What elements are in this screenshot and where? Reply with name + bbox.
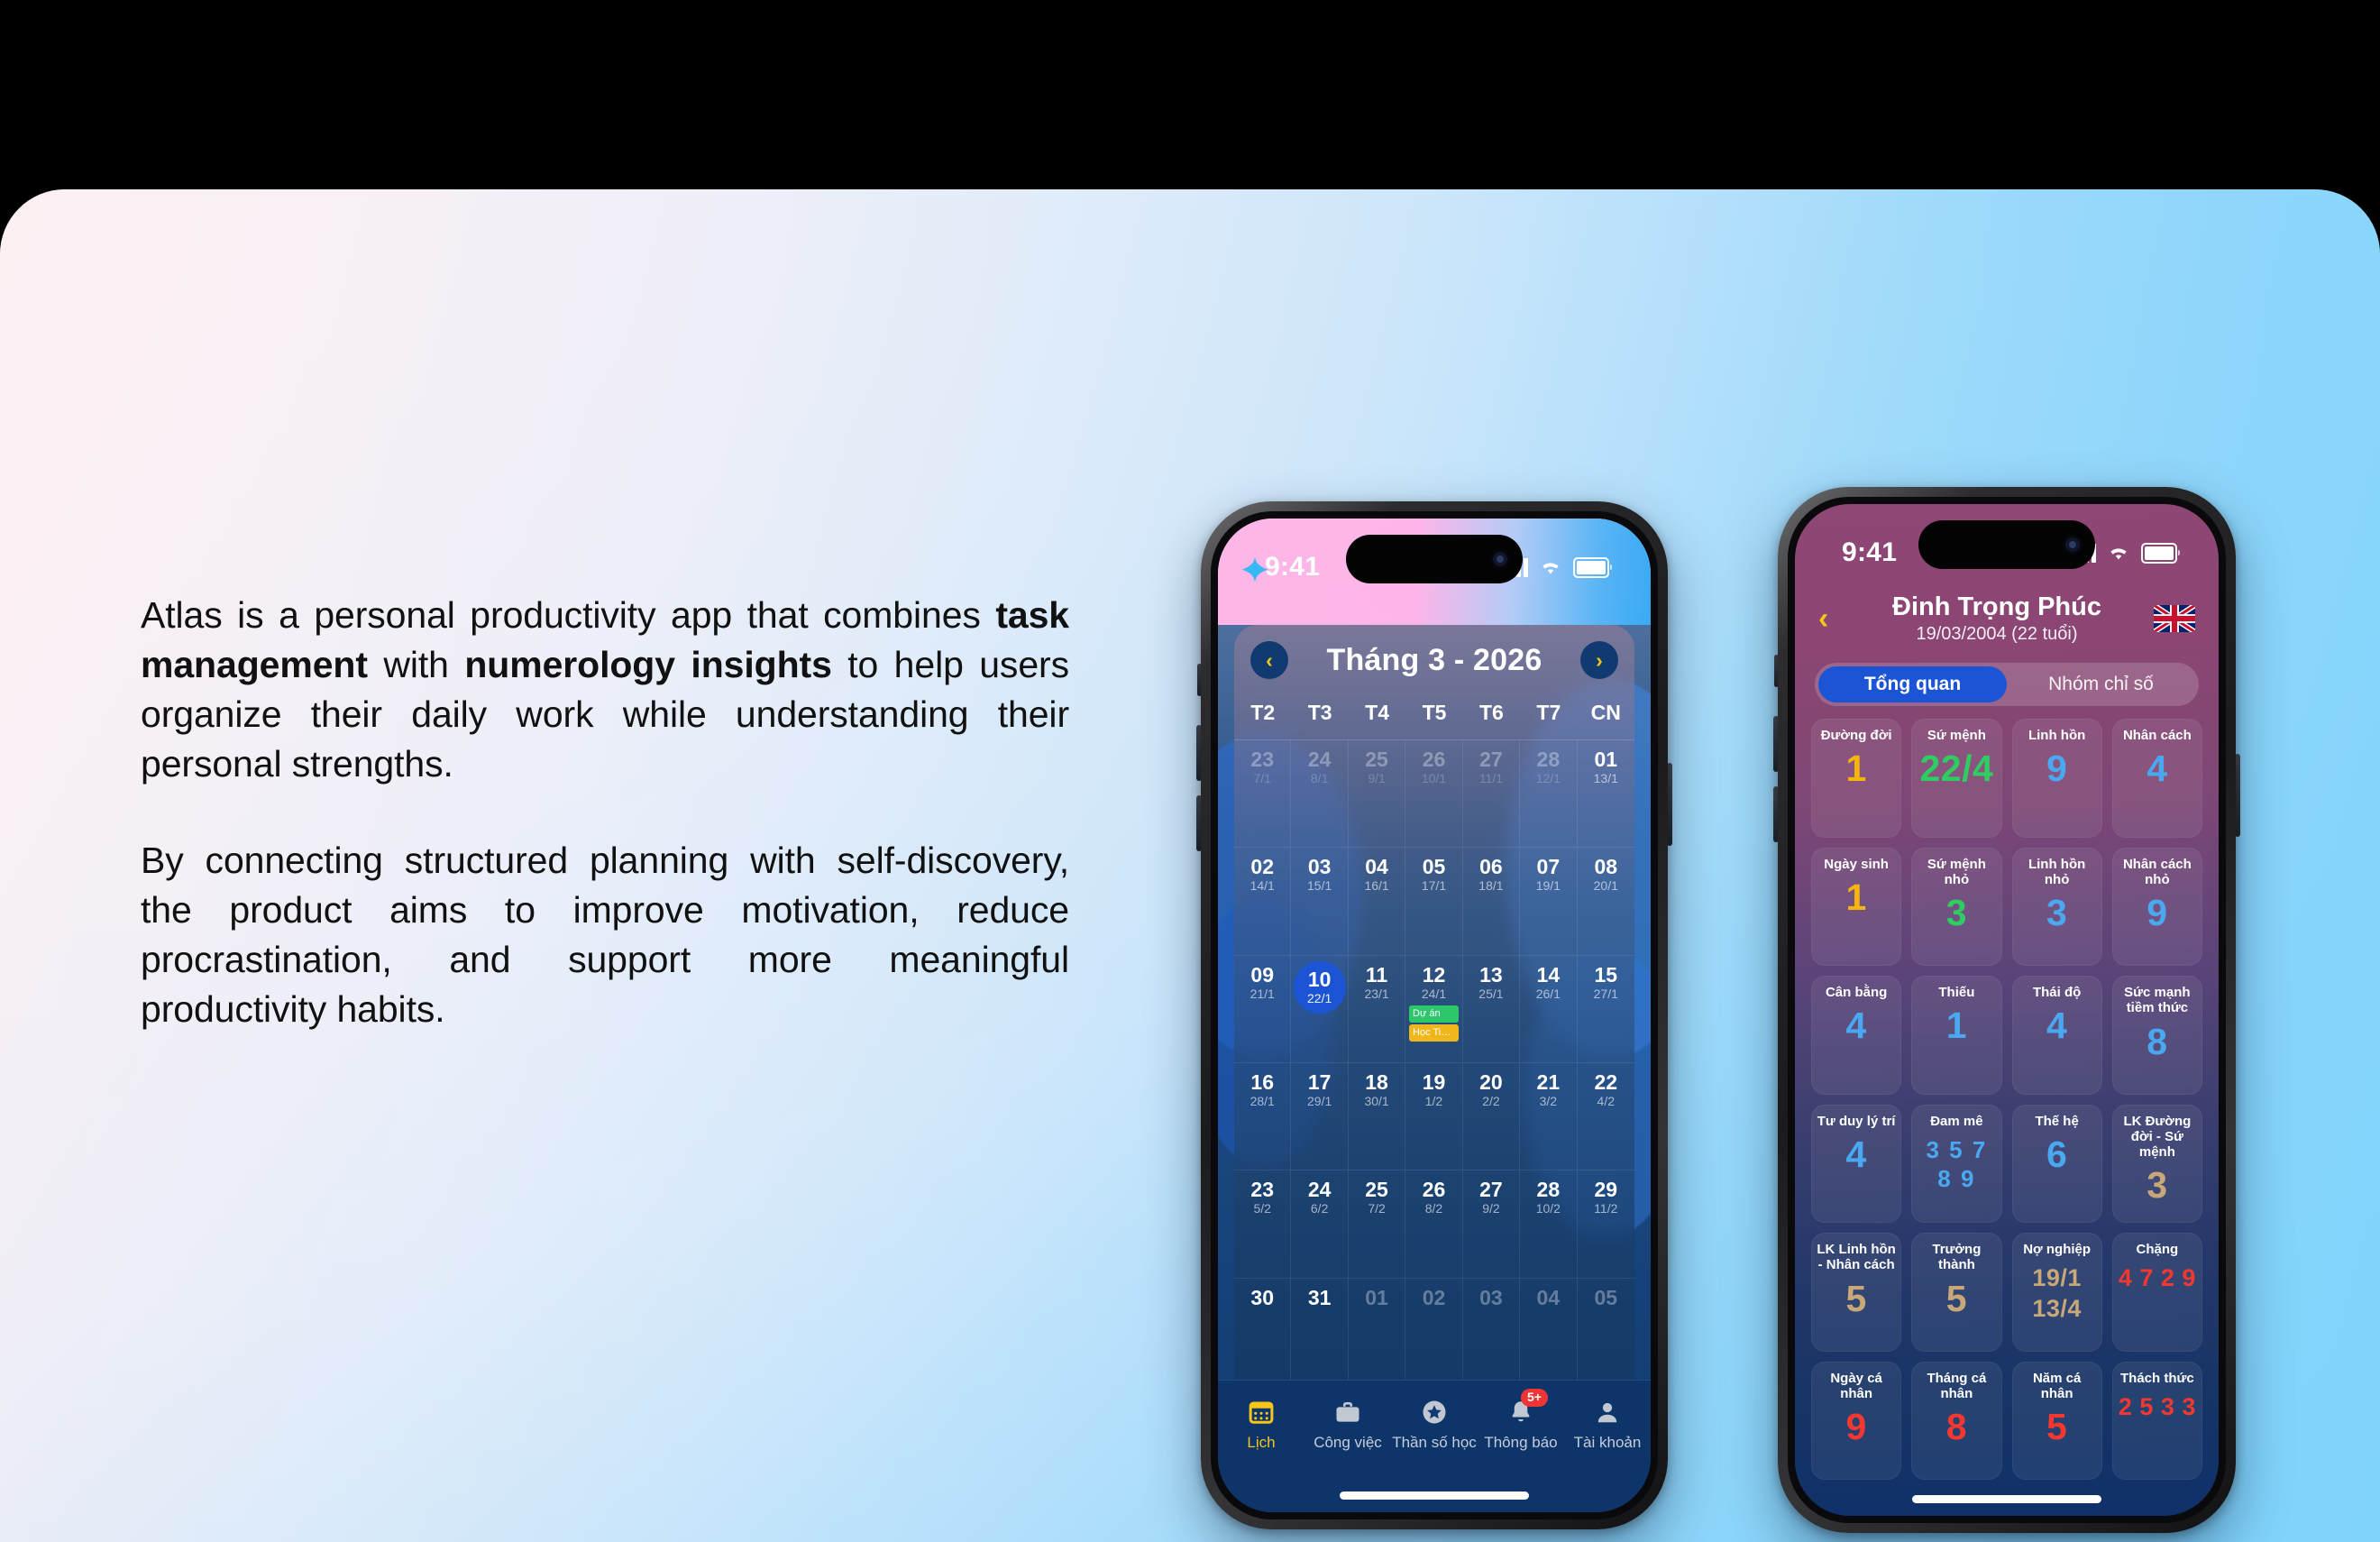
day-solar: 09 [1250,964,1274,986]
tab-label: Thông báo [1484,1434,1557,1452]
day-number-wrap: 0517/1 [1422,856,1446,893]
day-number-wrap: 31 [1308,1287,1332,1308]
numerology-label: LK Đường đời - Sứ mệnh [2112,1114,2202,1161]
numerology-cell[interactable]: Linh hồn9 [2012,719,2102,838]
numerology-value: 2 5 3 3 [2119,1392,2196,1423]
tab-star-circle[interactable]: Thần số học [1391,1397,1478,1452]
calendar-day-cell[interactable]: 1123/1 [1349,956,1405,1063]
day-solar: 31 [1308,1287,1332,1308]
calendar-day-cell[interactable]: 01 [1349,1279,1405,1386]
screenshot-stage: Atlas is a personal productivity app tha… [0,0,2380,1463]
day-solar: 25 [1365,1179,1388,1200]
day-lunar: 15/1 [1307,878,1332,893]
tab-label: Công việc [1314,1434,1382,1452]
calendar-day-cell[interactable]: 30 [1234,1279,1291,1386]
day-number-wrap: 1628/1 [1250,1071,1275,1108]
numerology-cell[interactable]: Nợ nghiệp19/113/4 [2012,1233,2102,1352]
numerology-cell[interactable]: Cân bằng4 [1811,976,1901,1095]
numerology-label: Thách thức [2116,1371,2199,1386]
home-indicator[interactable] [1340,1492,1529,1500]
day-lunar: 7/1 [1253,771,1270,785]
calendar-day-cell[interactable]: 237/1 [1234,740,1291,848]
segment-index-group[interactable]: Nhóm chỉ số [2007,666,2195,702]
presentation-card: Atlas is a personal productivity app tha… [0,189,2380,1542]
day-number-wrap: 1224/1 [1422,964,1446,1001]
numerology-cell[interactable]: Sức mạnh tiềm thức8 [2112,976,2202,1095]
status-time: 9:41 [1265,552,1320,583]
numerology-cell[interactable]: Nhân cách nhỏ9 [2112,848,2202,967]
day-lunar: 8/1 [1311,771,1328,785]
day-solar: 16 [1250,1071,1274,1093]
day-solar: 28 [1537,748,1561,770]
day-solar: 26 [1423,1179,1446,1200]
phone-screen-numerology: 9:41 ‹ Đinh Trọng Phúc 19/03/20 [1795,504,2219,1516]
numerology-value: 1 [1946,1006,1967,1045]
day-number-wrap: 1426/1 [1536,964,1561,1001]
day-lunar: 5/2 [1253,1201,1270,1216]
day-lunar: 17/1 [1422,878,1446,893]
numerology-value: 9 [1845,1408,1866,1446]
day-solar: 04 [1365,856,1388,877]
numerology-label: Thế hệ [2030,1114,2082,1129]
day-number-wrap: 0315/1 [1307,856,1332,893]
day-lunar: 7/2 [1368,1201,1385,1216]
person-icon [1592,1397,1623,1427]
day-number-wrap: 01 [1365,1287,1388,1308]
tab-label: Tài khoản [1574,1434,1642,1452]
calendar-day-cell[interactable]: 213/2 [1520,1063,1577,1170]
description-text-block: Atlas is a personal productivity app tha… [141,591,1069,1034]
calendar-day-cell[interactable]: 202/2 [1463,1063,1520,1170]
day-lunar: 11/2 [1594,1201,1617,1216]
calendar-day-cell[interactable]: 268/2 [1405,1170,1462,1278]
day-lunar: 11/1 [1479,771,1503,785]
numerology-cell[interactable]: Thách thức2 5 3 3 [2112,1362,2202,1481]
numerology-value: 3 5 78 9 [1926,1135,1987,1194]
calendar-day-cell[interactable]: 03 [1463,1279,1520,1386]
weekday-label: CN [1578,701,1634,725]
numerology-label: Sứ mệnh nhỏ [1911,857,2001,888]
phone-mockup-calendar: 9:41 ‹ Tháng 3 - 2026 [1201,501,1668,1529]
calendar-day-cell[interactable]: 2711/1 [1463,740,1520,848]
numerology-value: 8 [2147,1023,2167,1061]
calendar-day-cell[interactable]: 248/1 [1291,740,1348,848]
day-event-chips: Dự ánHọc Tiến... [1409,1005,1459,1042]
day-lunar: 25/1 [1478,987,1503,1001]
calendar-day-cell[interactable]: 2810/2 [1520,1170,1577,1278]
day-lunar: 13/1 [1594,771,1618,785]
day-solar: 10 [1308,968,1332,990]
battery-icon-2 [2141,543,2177,564]
calendar-day-cell[interactable]: 191/2 [1405,1063,1462,1170]
day-number-wrap: 202/2 [1479,1071,1503,1108]
numerology-value: 4 [2046,1006,2067,1045]
numerology-cell[interactable]: Ngày sinh1 [1811,848,1901,967]
numerology-value: 9 [2046,749,2067,788]
battery-icon [1573,557,1609,578]
day-solar: 14 [1537,964,1561,986]
day-lunar: 10/2 [1536,1201,1561,1216]
numerology-value: 1 [1845,878,1866,917]
day-number-wrap: 0214/1 [1250,856,1275,893]
day-solar: 05 [1594,1287,1617,1308]
prev-month-button[interactable]: ‹ [1250,641,1288,679]
day-solar: 08 [1594,856,1617,877]
calendar-day-cell[interactable]: 0113/1 [1578,740,1634,848]
numerology-value: 3 [2147,1166,2167,1205]
phone-bezel-2: 9:41 ‹ Đinh Trọng Phúc 19/03/20 [1788,497,2226,1523]
event-chip[interactable]: Dự án [1409,1005,1459,1023]
calendar-day-cell[interactable]: 1830/1 [1349,1063,1405,1170]
phone-frame: 9:41 ‹ Tháng 3 - 2026 [1201,501,1668,1529]
day-lunar: 9/1 [1368,771,1385,785]
day-number-wrap: 05 [1594,1287,1617,1308]
day-number-wrap: 2812/1 [1536,748,1561,785]
numerology-value: 3 [1946,894,1967,932]
calendar-day-cell[interactable]: 31 [1291,1279,1348,1386]
day-number-wrap: 1830/1 [1364,1071,1388,1108]
calendar-day-cell[interactable]: 259/1 [1349,740,1405,848]
profile-header: ‹ Đinh Trọng Phúc 19/03/2004 (22 tuổi) [1795,582,2219,656]
day-solar: 15 [1594,964,1617,986]
day-solar: 26 [1423,748,1446,770]
numerology-cell[interactable]: Nhân cách4 [2112,719,2202,838]
calendar-day-cell[interactable]: 0921/1 [1234,956,1291,1063]
day-solar: 11 [1366,964,1387,986]
numerology-value: 4 [1845,1135,1866,1174]
numerology-cell[interactable]: Sứ mệnh22/4 [1911,719,2001,838]
calendar-day-cell[interactable]: 0517/1 [1405,848,1462,955]
numerology-label: Tháng cá nhân [1911,1371,2001,1402]
numerology-label: Linh hồn [2024,728,2090,743]
day-number-wrap: 213/2 [1537,1071,1561,1108]
weekday-label: T4 [1349,701,1405,725]
numerology-cell[interactable]: Trưởng thành5 [1911,1233,2001,1352]
day-lunar: 27/1 [1594,987,1618,1001]
calendar-day-cell[interactable]: 257/2 [1349,1170,1405,1278]
day-lunar: 19/1 [1536,878,1561,893]
phone-frame-2: 9:41 ‹ Đinh Trọng Phúc 19/03/20 [1778,487,2236,1533]
segment-overview[interactable]: Tổng quan [1818,666,2007,702]
day-number-wrap: 246/2 [1308,1179,1332,1216]
sparkle-icon [1240,555,1270,586]
numerology-value: 5 [1946,1280,1967,1318]
calendar-day-cell[interactable]: 0214/1 [1234,848,1291,955]
wifi-icon-2 [2107,544,2130,562]
day-solar: 21 [1537,1071,1561,1093]
day-number-wrap: 0113/1 [1594,748,1618,785]
day-number-wrap: 235/2 [1250,1179,1274,1216]
day-number-wrap: 279/2 [1479,1179,1503,1216]
day-lunar: 1/2 [1425,1094,1442,1108]
numerology-label: Ngày sinh [1819,857,1893,872]
numerology-cell[interactable]: LK Linh hồn - Nhân cách5 [1811,1233,1901,1352]
day-solar: 22 [1594,1071,1617,1093]
numerology-label: Cân bằng [1821,985,1891,1000]
day-lunar: 22/1 [1307,991,1332,1005]
home-indicator-2[interactable] [1912,1495,2101,1503]
numerology-cell[interactable]: Đam mê3 5 78 9 [1911,1105,2001,1224]
profile-dob: 19/03/2004 (22 tuổi) [1916,624,2077,645]
day-solar: 30 [1250,1287,1274,1308]
profile-titles: Đinh Trọng Phúc 19/03/2004 (22 tuổi) [1840,592,2154,645]
calendar-header: ‹ Tháng 3 - 2026 › [1234,625,1634,695]
day-lunar: 18/1 [1478,878,1503,893]
calendar-day-cell[interactable]: 04 [1520,1279,1577,1386]
front-camera-icon-2 [2063,535,2082,555]
numerology-cell[interactable]: LK Đường đời - Sứ mệnh3 [2112,1105,2202,1224]
weekday-label: T3 [1291,701,1348,725]
day-solar: 05 [1423,856,1446,877]
calendar-day-cell[interactable]: 0416/1 [1349,848,1405,955]
numerology-label: Tư duy lý trí [1813,1114,1900,1129]
numerology-value: 4 7 2 9 [2119,1263,2196,1294]
day-lunar: 12/1 [1536,771,1561,785]
day-number-wrap: 0719/1 [1536,856,1561,893]
day-lunar: 30/1 [1364,1094,1388,1108]
day-lunar: 2/2 [1482,1094,1499,1108]
day-solar: 19 [1423,1071,1446,1093]
calendar-day-cell[interactable]: 2812/1 [1520,740,1577,848]
day-solar: 01 [1594,748,1617,770]
calendar-day-cell[interactable]: 279/2 [1463,1170,1520,1278]
numerology-value: 5 [1845,1280,1866,1318]
wifi-icon [1539,558,1562,576]
calendar-day-cell[interactable]: 05 [1578,1279,1634,1386]
day-lunar: 8/2 [1425,1201,1442,1216]
numerology-label: Đam mê [1926,1114,1987,1129]
numerology-grid: Đường đời1Sứ mệnh22/4Linh hồn9Nhân cách4… [1811,719,2202,1480]
numerology-label: Trưởng thành [1911,1242,2001,1273]
day-number-wrap: 04 [1537,1287,1561,1308]
calendar-day-cell[interactable]: 0618/1 [1463,848,1520,955]
tab-label: Lịch [1247,1434,1275,1452]
calendar-icon [1246,1397,1277,1427]
numerology-cell[interactable]: Ngày cá nhân9 [1811,1362,1901,1481]
segmented-control: Tổng quanNhóm chỉ số [1815,663,2199,706]
day-lunar: 29/1 [1307,1094,1332,1108]
front-camera-icon [1490,549,1510,569]
numerology-value: 8 [1946,1408,1967,1446]
day-lunar: 24/1 [1422,987,1446,1001]
day-number-wrap: 2711/1 [1479,748,1503,785]
day-solar: 20 [1479,1071,1503,1093]
uk-flag-icon[interactable] [2154,605,2195,632]
numerology-label: Nợ nghiệp [2018,1242,2095,1257]
day-number-wrap: 0618/1 [1478,856,1503,893]
day-solar: 28 [1537,1179,1561,1200]
day-number-wrap: 0416/1 [1364,856,1388,893]
calendar-day-cell[interactable]: 1729/1 [1291,1063,1348,1170]
calendar-day-cell[interactable]: 1527/1 [1578,956,1634,1063]
status-time-2: 9:41 [1842,537,1897,568]
calendar-title: Tháng 3 - 2026 [1327,643,1542,678]
numerology-value: 5 [2046,1408,2067,1446]
numerology-label: Nhân cách [2119,728,2196,743]
numerology-cell[interactable]: Thái độ4 [2012,976,2102,1095]
day-number-wrap: 30 [1250,1287,1274,1308]
day-solar: 23 [1250,1179,1274,1200]
weekday-label: T7 [1520,701,1577,725]
numerology-value: 3 [2046,894,2067,932]
day-solar: 03 [1308,856,1332,877]
day-solar: 03 [1479,1287,1503,1308]
numerology-cell[interactable]: Thế hệ6 [2012,1105,2102,1224]
next-month-button[interactable]: › [1580,641,1618,679]
dynamic-island [1346,535,1523,583]
star-circle-icon [1419,1397,1450,1427]
day-solar: 24 [1308,1179,1332,1200]
day-number-wrap: 259/1 [1365,748,1388,785]
day-solar: 02 [1250,856,1274,877]
day-number-wrap: 0820/1 [1594,856,1618,893]
numerology-cell[interactable]: Sứ mệnh nhỏ3 [1911,848,2001,967]
calendar-day-cell[interactable]: 02 [1405,1279,1462,1386]
day-number-wrap: 2610/1 [1422,748,1446,785]
day-lunar: 21/1 [1250,987,1275,1001]
numerology-label: Năm cá nhân [2012,1371,2102,1402]
notification-badge: 5+ [1521,1389,1548,1407]
calendar-day-cell[interactable]: 1325/1 [1463,956,1520,1063]
day-solar: 01 [1365,1287,1388,1308]
day-lunar: 23/1 [1364,987,1388,1001]
numerology-label: LK Linh hồn - Nhân cách [1811,1242,1901,1273]
tab-person[interactable]: Tài khoản [1564,1397,1651,1452]
day-solar: 18 [1365,1071,1388,1093]
day-solar: 27 [1479,1179,1503,1200]
day-number-wrap: 1729/1 [1307,1071,1332,1108]
day-solar: 02 [1423,1287,1446,1308]
event-chip[interactable]: Học Tiến... [1409,1024,1459,1042]
day-lunar: 4/2 [1597,1094,1615,1108]
calendar-day-cell[interactable]: 0315/1 [1291,848,1348,955]
calendar-day-cell[interactable]: 224/2 [1578,1063,1634,1170]
day-number-wrap: 2810/2 [1536,1179,1561,1216]
numerology-label: Ngày cá nhân [1811,1371,1901,1402]
day-number-wrap: 191/2 [1423,1071,1446,1108]
day-lunar: 3/2 [1540,1094,1557,1108]
day-number-wrap: 237/1 [1250,748,1274,785]
tab-briefcase[interactable]: Công việc [1304,1397,1391,1452]
day-lunar: 14/1 [1250,878,1275,893]
numerology-cell[interactable]: Thiếu1 [1911,976,2001,1095]
day-solar: 07 [1537,856,1561,877]
calendar-day-grid: 237/1248/1259/12610/12711/12812/10113/10… [1234,740,1634,1386]
day-lunar: 16/1 [1364,878,1388,893]
day-lunar: 20/1 [1594,878,1618,893]
numerology-label: Nhân cách nhỏ [2112,857,2202,888]
tab-bell[interactable]: 5+Thông báo [1478,1397,1564,1452]
day-solar: 04 [1537,1287,1561,1308]
calendar-day-cell[interactable]: 235/2 [1234,1170,1291,1278]
day-number-wrap: 268/2 [1423,1179,1446,1216]
day-number-wrap: 02 [1423,1287,1446,1308]
calendar-day-cell[interactable]: 1628/1 [1234,1063,1291,1170]
day-number-wrap: 1527/1 [1594,964,1618,1001]
day-number-wrap: 0921/1 [1250,964,1275,1001]
numerology-label: Thiếu [1934,985,1979,1000]
day-solar: 25 [1365,748,1388,770]
day-solar: 23 [1250,748,1274,770]
day-lunar: 6/2 [1311,1201,1328,1216]
bell-icon: 5+ [1506,1397,1536,1427]
calendar-day-cell[interactable]: 1224/1Dự ánHọc Tiến... [1405,956,1462,1063]
numerology-cell[interactable]: Năm cá nhân5 [2012,1362,2102,1481]
calendar-day-cell[interactable]: 0820/1 [1578,848,1634,955]
numerology-label: Thái độ [2028,985,2085,1000]
numerology-value: 22/4 [1919,749,1993,788]
numerology-value: 19/113/4 [2032,1263,2082,1325]
day-number-wrap: 1123/1 [1364,964,1388,1001]
day-number-wrap: 257/2 [1365,1179,1388,1216]
profile-name: Đinh Trọng Phúc [1892,592,2101,622]
day-number-wrap: 1022/1 [1294,961,1346,1014]
weekday-label: T6 [1463,701,1520,725]
phone-screen-calendar: 9:41 ‹ Tháng 3 - 2026 [1218,519,1651,1512]
day-number-wrap: 248/1 [1308,748,1332,785]
day-lunar: 9/2 [1482,1201,1499,1216]
numerology-cell[interactable]: Tháng cá nhân8 [1911,1362,2001,1481]
phone-mockup-numerology: 9:41 ‹ Đinh Trọng Phúc 19/03/20 [1778,487,2236,1533]
day-solar: 12 [1423,964,1446,986]
calendar-day-cell[interactable]: 2610/1 [1405,740,1462,848]
description-paragraph-1: Atlas is a personal productivity app tha… [141,591,1069,789]
numerology-cell[interactable]: Linh hồn nhỏ3 [2012,848,2102,967]
phone-bezel: 9:41 ‹ Tháng 3 - 2026 [1211,511,1658,1519]
calendar-day-cell[interactable]: 246/2 [1291,1170,1348,1278]
calendar-card: ‹ Tháng 3 - 2026 › T2T3T4T5T6T7CN 237/12… [1234,625,1634,1397]
day-solar: 27 [1479,748,1503,770]
day-number-wrap: 03 [1479,1287,1503,1308]
calendar-day-cell[interactable]: 1426/1 [1520,956,1577,1063]
numerology-label: Đường đời [1817,728,1897,743]
numerology-label: Sức mạnh tiềm thức [2112,985,2202,1016]
weekday-header-row: T2T3T4T5T6T7CN [1234,695,1634,740]
day-solar: 29 [1594,1179,1617,1200]
day-solar: 06 [1479,856,1503,877]
day-number-wrap: 2911/2 [1594,1179,1617,1216]
day-lunar: 28/1 [1250,1094,1275,1108]
day-solar: 13 [1479,964,1503,986]
numerology-label: Chặng [2132,1242,2183,1257]
dynamic-island-2 [1918,520,2095,569]
day-number-wrap: 1325/1 [1478,964,1503,1001]
numerology-cell[interactable]: Đường đời1 [1811,719,1901,838]
day-number-wrap: 224/2 [1594,1071,1617,1108]
day-lunar: 26/1 [1536,987,1561,1001]
numerology-value: 6 [2046,1135,2067,1174]
day-lunar: 10/1 [1422,771,1446,785]
weekday-label: T5 [1405,701,1462,725]
weekday-label: T2 [1234,701,1291,725]
numerology-cell[interactable]: Chặng4 7 2 9 [2112,1233,2202,1352]
numerology-cell[interactable]: Tư duy lý trí4 [1811,1105,1901,1224]
tab-label: Thần số học [1392,1434,1477,1452]
numerology-value: 4 [1845,1006,1866,1045]
day-solar: 24 [1308,748,1332,770]
numerology-value: 4 [2147,749,2167,788]
day-solar: 17 [1308,1071,1332,1093]
tab-calendar[interactable]: Lịch [1218,1397,1304,1452]
calendar-day-cell[interactable]: 1022/1 [1291,956,1348,1063]
briefcase-icon [1332,1397,1363,1427]
numerology-label: Sứ mệnh [1923,728,1991,743]
description-paragraph-2: By connecting structured planning with s… [141,836,1069,1034]
calendar-day-cell[interactable]: 2911/2 [1578,1170,1634,1278]
numerology-value: 1 [1845,749,1866,788]
calendar-day-cell[interactable]: 0719/1 [1520,848,1577,955]
numerology-label: Linh hồn nhỏ [2012,857,2102,888]
